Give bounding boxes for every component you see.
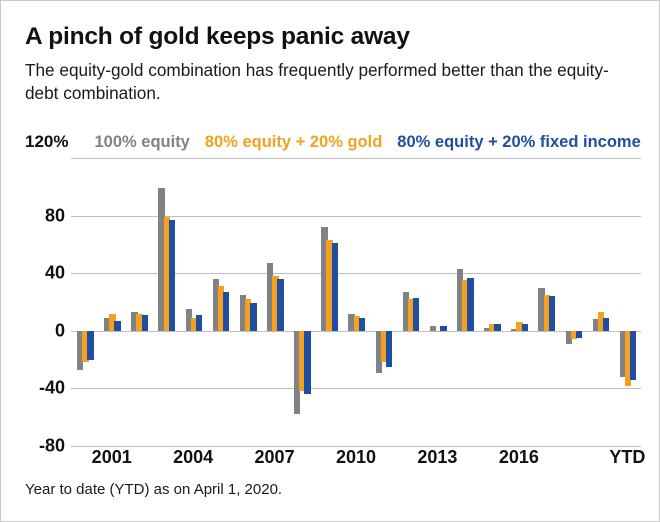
page-title: A pinch of gold keeps panic away bbox=[25, 23, 410, 51]
plot-area bbox=[71, 158, 641, 446]
y-tick-label: 0 bbox=[1, 320, 65, 341]
bar-group bbox=[180, 158, 207, 446]
bar bbox=[332, 243, 338, 331]
bar-group bbox=[614, 158, 641, 446]
bar-group bbox=[560, 158, 587, 446]
y-tick-label: 40 bbox=[1, 263, 65, 284]
bar bbox=[386, 331, 392, 367]
chart-legend: 120% 100% equity 80% equity + 20% gold 8… bbox=[25, 132, 641, 154]
y-tick-label: -80 bbox=[1, 436, 65, 457]
legend-item-gold: 80% equity + 20% gold bbox=[205, 133, 382, 152]
bar-group bbox=[71, 158, 98, 446]
y-axis-labels: 80400-40-80 bbox=[1, 158, 65, 446]
bar-group bbox=[152, 158, 179, 446]
bar bbox=[630, 331, 636, 380]
bar bbox=[250, 303, 256, 330]
bar-group bbox=[397, 158, 424, 446]
bar bbox=[223, 292, 229, 331]
bar bbox=[196, 315, 202, 331]
bar bbox=[277, 279, 283, 331]
chart-page: A pinch of gold keeps panic away The equ… bbox=[0, 0, 660, 522]
bar bbox=[142, 315, 148, 331]
bar bbox=[359, 318, 365, 331]
bar-group bbox=[98, 158, 125, 446]
x-tick-label: 2013 bbox=[417, 447, 457, 468]
bar-group bbox=[342, 158, 369, 446]
x-tick-label: YTD bbox=[609, 447, 645, 468]
bar-group bbox=[505, 158, 532, 446]
x-tick-label: 2010 bbox=[336, 447, 376, 468]
bar bbox=[413, 298, 419, 331]
bar bbox=[603, 318, 609, 331]
bar bbox=[549, 296, 555, 331]
bar-group bbox=[478, 158, 505, 446]
y-axis-top-label: 120% bbox=[25, 132, 68, 152]
bar-group bbox=[532, 158, 559, 446]
bar bbox=[440, 326, 446, 330]
x-tick-label: 2016 bbox=[499, 447, 539, 468]
bar-group bbox=[424, 158, 451, 446]
bar bbox=[576, 331, 582, 338]
bar-group bbox=[315, 158, 342, 446]
y-tick-label: 80 bbox=[1, 205, 65, 226]
bar bbox=[467, 278, 473, 331]
legend-item-fixed-income: 80% equity + 20% fixed income bbox=[397, 133, 640, 152]
bar-group bbox=[370, 158, 397, 446]
bar-group bbox=[587, 158, 614, 446]
bar bbox=[494, 324, 500, 331]
bar-group bbox=[261, 158, 288, 446]
bar-group bbox=[451, 158, 478, 446]
bar-groups bbox=[71, 158, 641, 446]
legend-item-equity: 100% equity bbox=[94, 133, 189, 152]
bar bbox=[522, 324, 528, 331]
bar bbox=[169, 220, 175, 331]
y-tick-label: -40 bbox=[1, 378, 65, 399]
x-tick-label: 2001 bbox=[92, 447, 132, 468]
bar bbox=[435, 331, 441, 332]
chart-subtitle: The equity-gold combination has frequent… bbox=[25, 59, 641, 104]
x-tick-label: 2004 bbox=[173, 447, 213, 468]
bar-group bbox=[288, 158, 315, 446]
x-axis-labels: 200120042007201020132016YTD bbox=[71, 447, 641, 473]
bar-group bbox=[234, 158, 261, 446]
x-tick-label: 2007 bbox=[255, 447, 295, 468]
bar-group bbox=[125, 158, 152, 446]
bar bbox=[304, 331, 310, 394]
bar bbox=[114, 321, 120, 331]
bar-group bbox=[207, 158, 234, 446]
footnote: Year to date (YTD) as on April 1, 2020. bbox=[25, 481, 282, 498]
bar bbox=[87, 331, 93, 360]
